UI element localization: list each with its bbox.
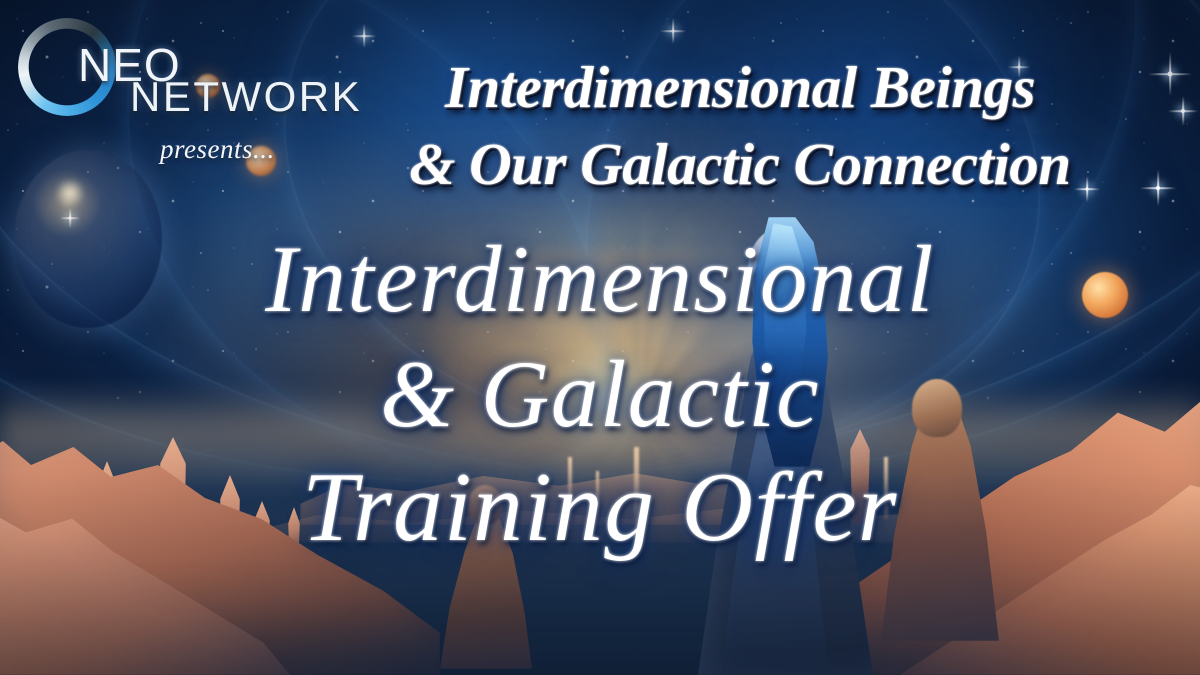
page-title-line3: Training Offer [0,458,1200,557]
page-title: Interdimensional & Galactic Training Off… [0,232,1200,557]
presents-label: presents... [160,134,275,165]
event-headline: Interdimensional Beings & Our Galactic C… [300,58,1180,194]
page-title-line1: Interdimensional [0,232,1200,327]
neo-network-logo[interactable]: NEO NETWORK [18,16,318,128]
event-headline-line1: Interdimensional Beings [445,54,1035,120]
event-headline-line2: & Our Galactic Connection [300,135,1180,194]
page-title-line2: & Galactic [0,347,1200,442]
promo-banner: NEO NETWORK presents... Interdimensional… [0,0,1200,675]
